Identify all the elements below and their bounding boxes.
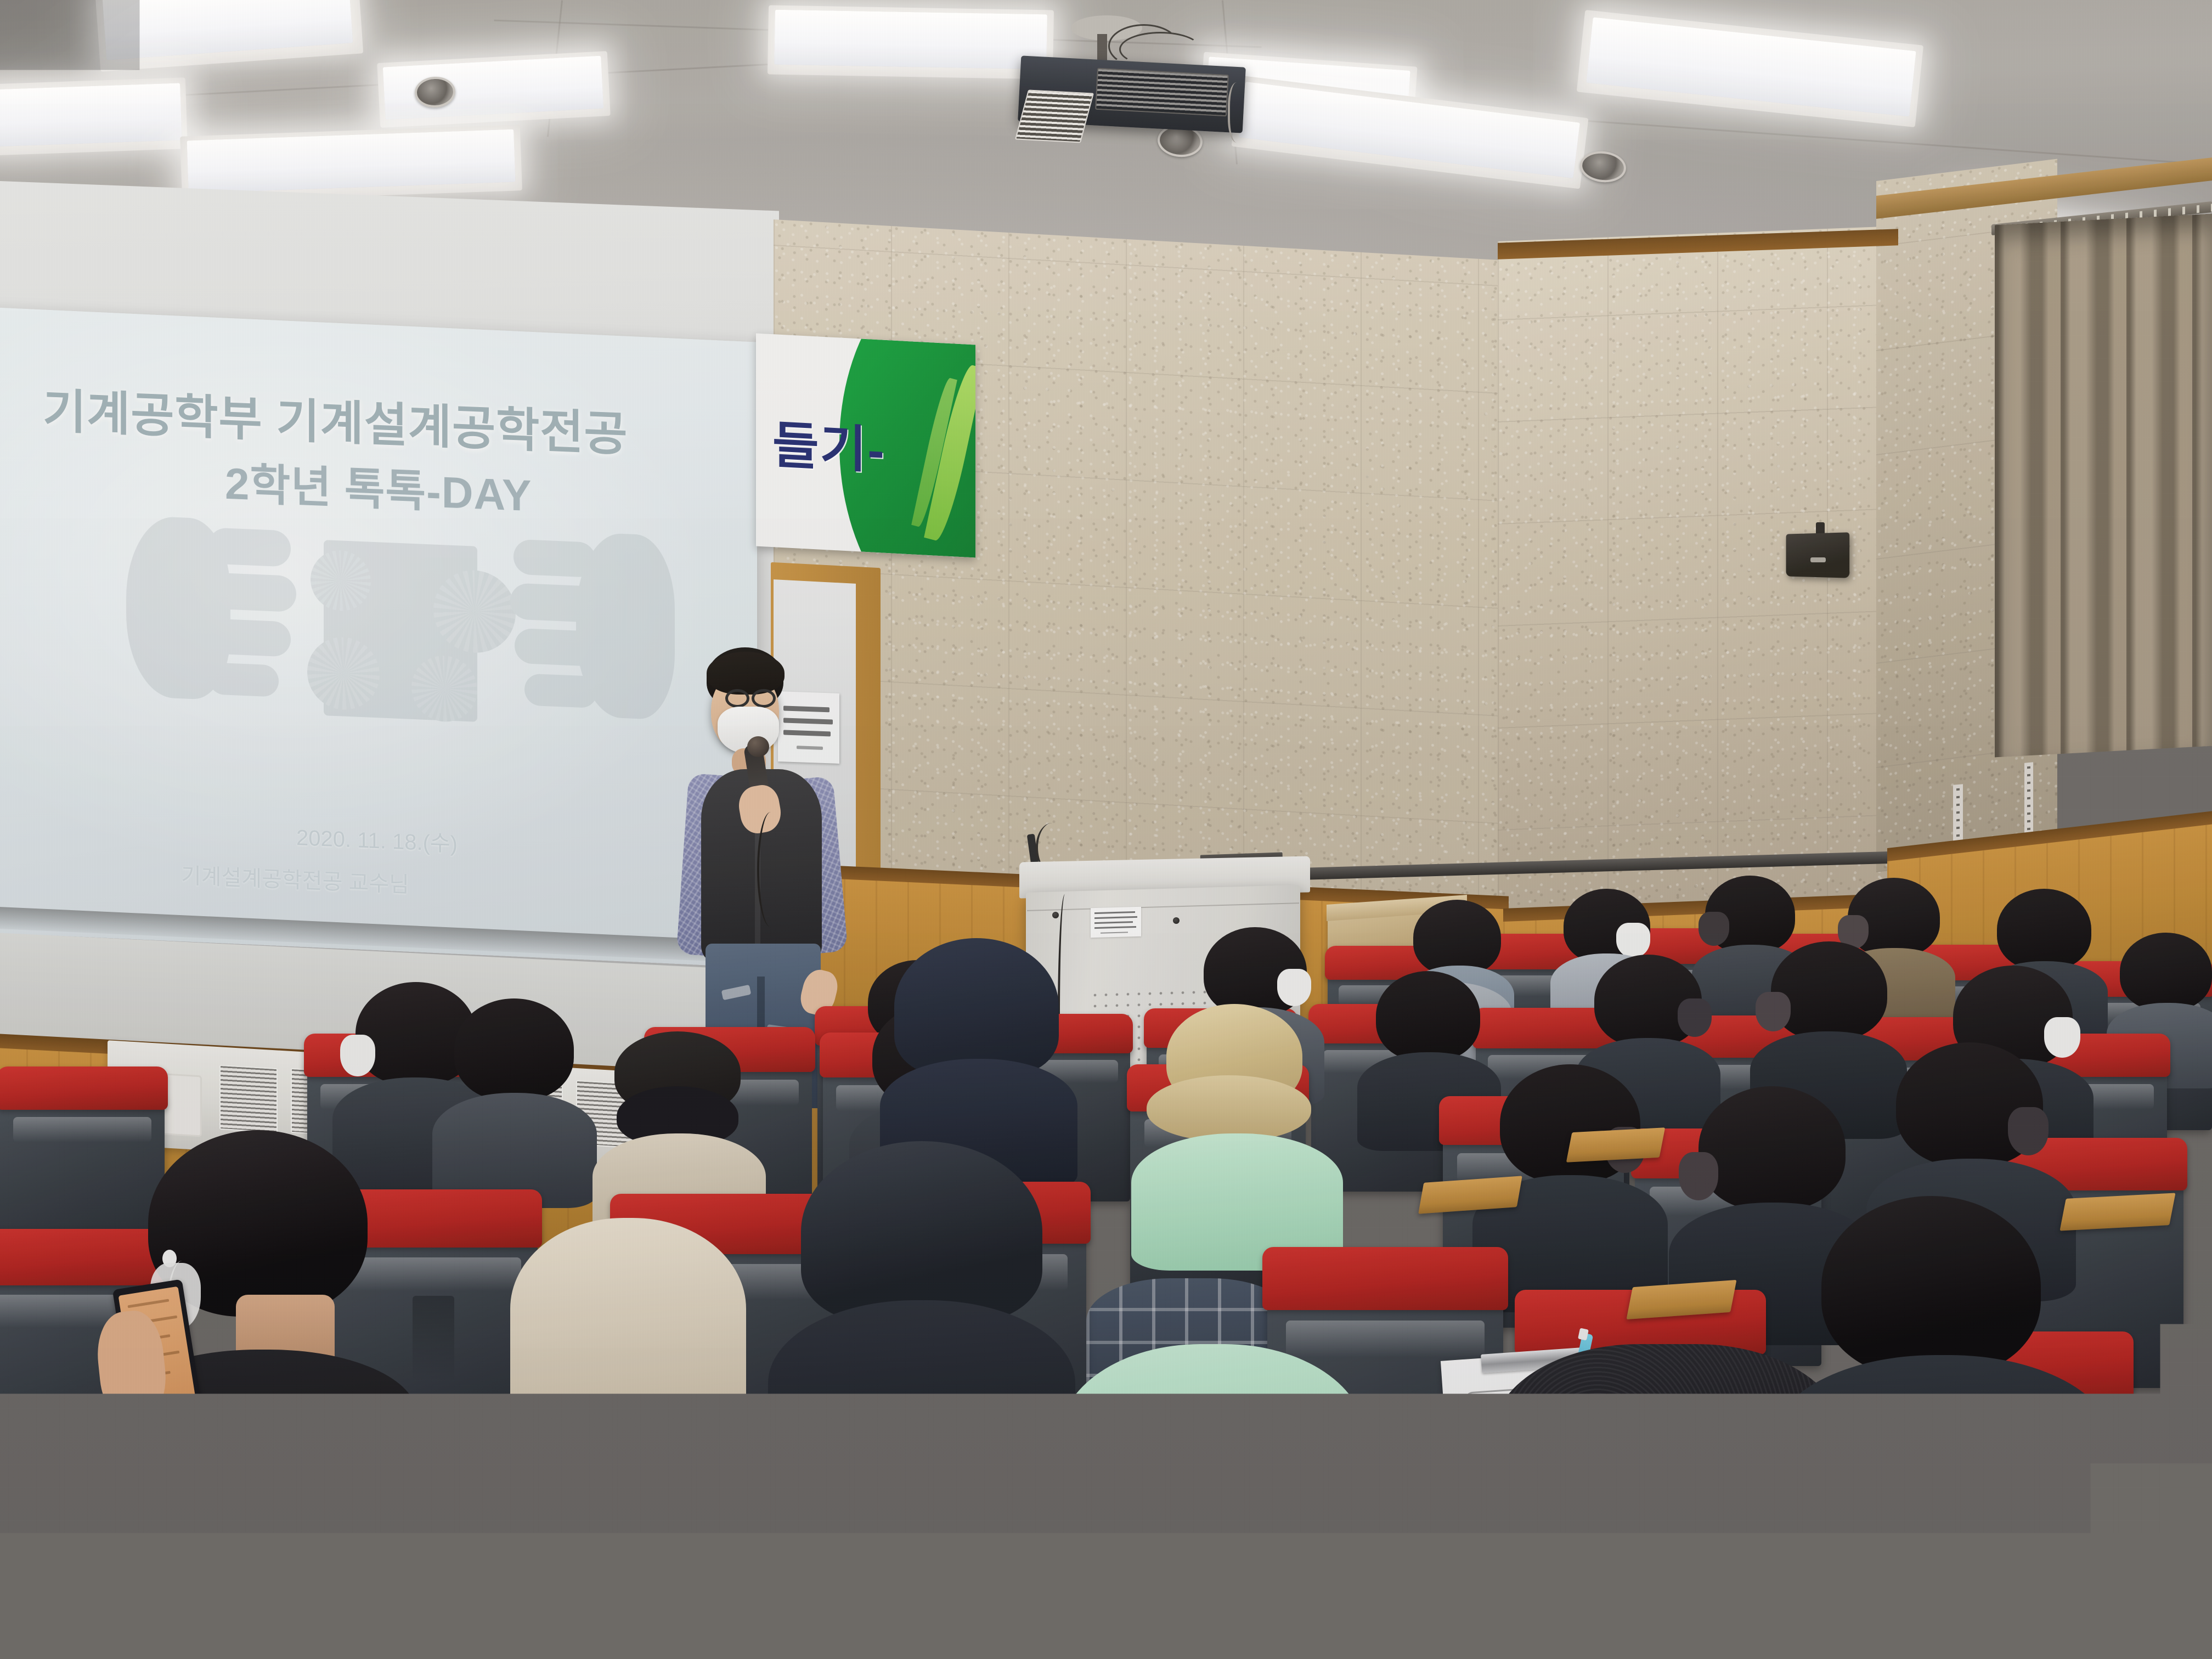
heater-vent: [219, 1065, 278, 1133]
slide-title-line2: 2학년 톡톡-DAY: [225, 448, 532, 524]
hoodie-hood: [801, 1141, 1042, 1322]
window-curtain: [1995, 214, 2212, 758]
auditorium-seat[interactable]: [1953, 1492, 2212, 1659]
presenter-hair-front: [707, 652, 785, 695]
slide-finger: [524, 673, 597, 708]
audience-member: [889, 938, 1070, 1169]
projector-vent: [1095, 68, 1229, 116]
slide-footer-date: 2020. 11. 18.(수): [296, 820, 458, 858]
wall-texture: [1498, 226, 1893, 933]
glasses-icon: [752, 689, 776, 708]
slide-finger: [510, 583, 598, 623]
student-jacket: [510, 1218, 746, 1470]
audience-member: [510, 1152, 741, 1459]
ceiling-light: [0, 83, 182, 147]
microphone-head: [747, 736, 769, 757]
speaker-slot: [1810, 557, 1826, 562]
audience-member: [779, 1141, 1064, 1514]
slide-artwork: [126, 499, 675, 758]
slide-finger: [208, 662, 279, 697]
tablet-arm-desk[interactable]: [103, 1576, 325, 1659]
slide-finger: [515, 628, 598, 667]
wall-mounted-speaker: [1786, 532, 1850, 578]
slide-finger: [208, 572, 296, 612]
projector-power-cable: [1228, 82, 1250, 143]
baseball-cap-brim: [1147, 1075, 1311, 1141]
hoodie-hood: [894, 938, 1059, 1075]
audience-member: [1141, 1004, 1333, 1240]
slide-finger: [208, 618, 291, 657]
slide-finger: [208, 527, 291, 567]
tablet-arm-desk[interactable]: [1566, 1127, 1665, 1163]
student-torso: [768, 1300, 1075, 1531]
microphone-cable: [757, 812, 785, 927]
projector-vent: [1015, 89, 1094, 143]
glasses-icon: [725, 689, 749, 708]
ceiling-light: [774, 10, 1047, 70]
block-wall-right: [1498, 226, 1893, 933]
lectern-fixing-hole: [1052, 912, 1059, 918]
slide-finger: [513, 539, 596, 578]
student-hair: [1147, 1492, 1432, 1659]
banner-text: 들기-: [772, 404, 885, 483]
lectern-fixing-hole: [1173, 917, 1180, 924]
lectern-warning-sticker: [1091, 907, 1141, 938]
audience-member-foreground: [1125, 1492, 1465, 1659]
lecture-hall-photo: 기계공학부 기계설계공학전공 2학년 톡톡-DAY 2020. 11. 18.(…: [0, 0, 2212, 1659]
